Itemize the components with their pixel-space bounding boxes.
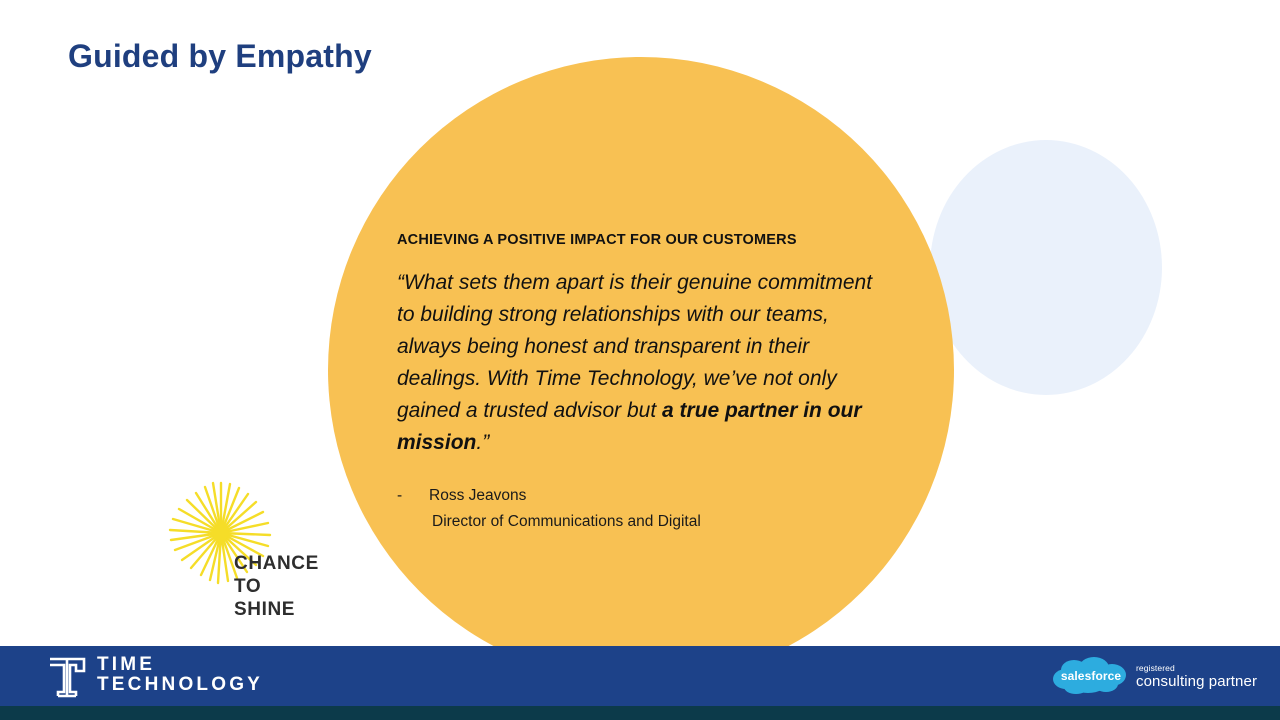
decorative-blue-circle	[930, 140, 1162, 395]
salesforce-partner-text: registered consulting partner	[1136, 663, 1257, 690]
footer-accent-strip	[0, 706, 1280, 720]
testimonial-block: ACHIEVING A POSITIVE IMPACT FOR OUR CUST…	[397, 232, 892, 535]
chance-to-shine-wordmark: CHANCE TO SHINE	[234, 552, 328, 621]
brand-line-2: TECHNOLOGY	[97, 675, 263, 695]
attribution-name-row: - Ross Jeavons	[397, 483, 892, 509]
time-technology-logo: TIME TECHNOLOGY	[44, 652, 263, 698]
salesforce-registered-label: registered	[1136, 663, 1257, 673]
testimonial-eyebrow: ACHIEVING A POSITIVE IMPACT FOR OUR CUST…	[397, 232, 892, 248]
attribution-name: Ross Jeavons	[429, 483, 526, 509]
page-title: Guided by Empathy	[68, 38, 372, 75]
attribution-dash: -	[397, 483, 429, 509]
chance-to-shine-logo: CHANCE TO SHINE	[168, 480, 328, 598]
salesforce-consulting-partner-label: consulting partner	[1136, 673, 1257, 690]
time-technology-wordmark: TIME TECHNOLOGY	[97, 655, 263, 695]
time-technology-monogram-icon	[44, 652, 90, 698]
cts-line-1: CHANCE	[234, 552, 328, 575]
brand-line-1: TIME	[97, 655, 263, 675]
slide-canvas: Guided by Empathy ACHIEVING A POSITIVE I…	[0, 0, 1280, 720]
testimonial-quote: “What sets them apart is their genuine c…	[397, 267, 883, 459]
salesforce-cloud-icon: salesforce	[1050, 657, 1132, 695]
attribution-role: Director of Communications and Digital	[397, 509, 892, 535]
salesforce-partner-badge: salesforce registered consulting partner	[1050, 655, 1257, 697]
cts-line-2: TO SHINE	[234, 575, 328, 621]
testimonial-attribution: - Ross Jeavons Director of Communication…	[397, 483, 892, 535]
quote-tail-text: .”	[476, 431, 489, 454]
salesforce-cloud-label: salesforce	[1050, 657, 1132, 695]
